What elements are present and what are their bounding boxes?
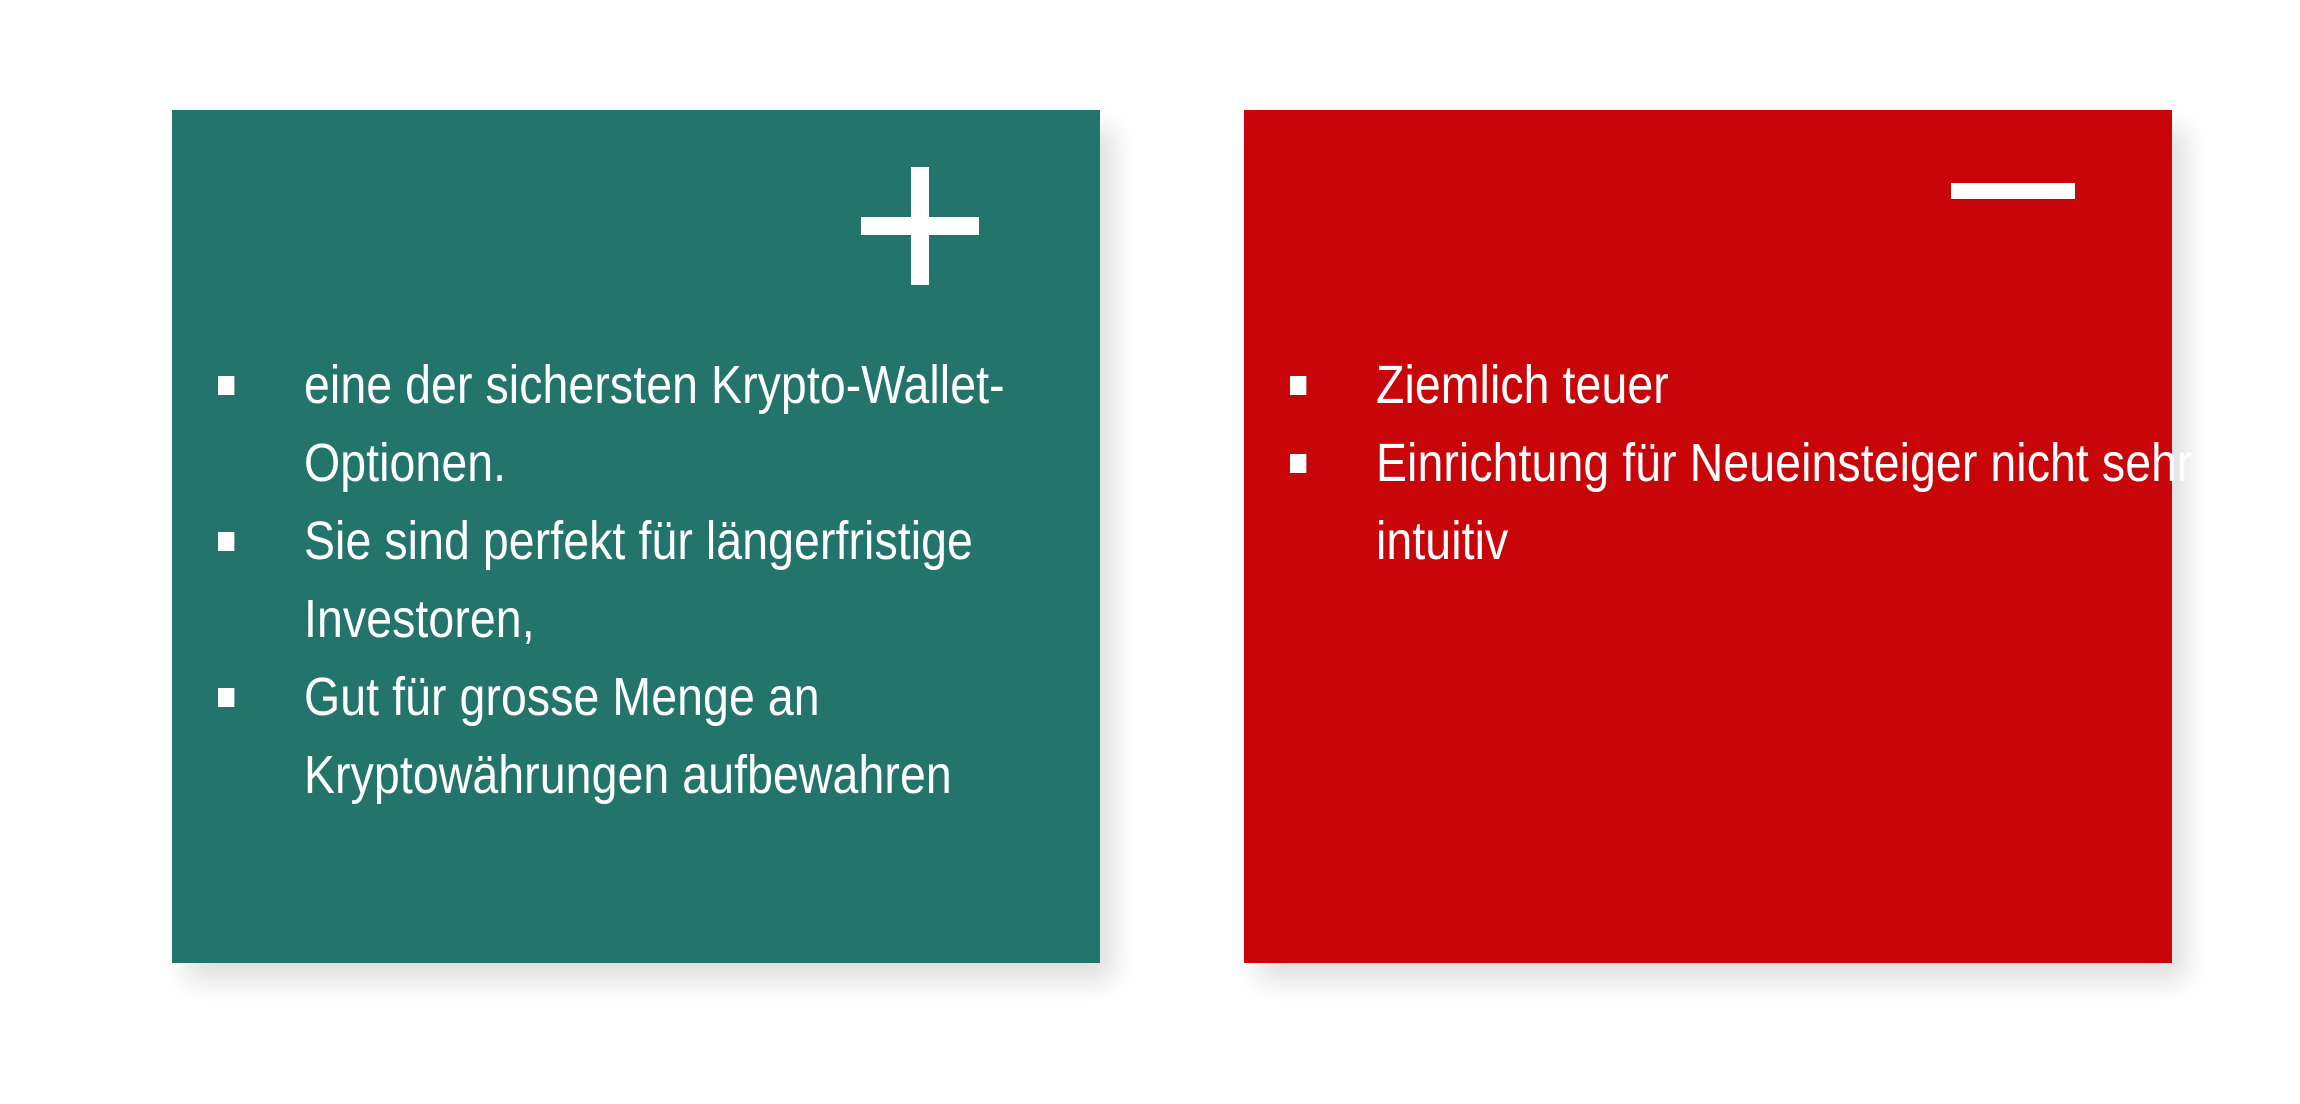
list-item: Ziemlich teuer xyxy=(1290,346,2232,424)
list-item: Einrichtung für Neueinsteiger nicht sehr… xyxy=(1290,424,2232,580)
list-item: Sie sind perfekt für längerfristige Inve… xyxy=(218,502,1160,658)
list-item: Gut für grosse Menge an Kryptowährungen … xyxy=(218,658,1160,814)
list-item-label: Einrichtung für Neueinsteiger nicht sehr… xyxy=(1376,424,2232,580)
bullet-square-icon xyxy=(1290,376,1306,395)
list-item: eine der sichersten Krypto-Wallet-Option… xyxy=(218,346,1160,502)
bullet-square-icon xyxy=(218,376,234,395)
cons-card: Ziemlich teuer Einrichtung für Neueinste… xyxy=(1244,110,2172,963)
comparison-panel: eine der sichersten Krypto-Wallet-Option… xyxy=(0,0,2300,1104)
minus-icon xyxy=(1951,183,2075,199)
list-item-label: Gut für grosse Menge an Kryptowährungen … xyxy=(304,658,1160,814)
list-item-label: eine der sichersten Krypto-Wallet-Option… xyxy=(304,346,1160,502)
pros-bullet-list: eine der sichersten Krypto-Wallet-Option… xyxy=(218,346,1076,814)
plus-icon xyxy=(861,167,979,285)
cons-bullet-list: Ziemlich teuer Einrichtung für Neueinste… xyxy=(1290,346,2148,580)
bullet-square-icon xyxy=(218,688,234,707)
pros-card: eine der sichersten Krypto-Wallet-Option… xyxy=(172,110,1100,963)
list-item-label: Ziemlich teuer xyxy=(1376,346,2232,424)
bullet-square-icon xyxy=(218,532,234,551)
bullet-square-icon xyxy=(1290,454,1306,473)
list-item-label: Sie sind perfekt für längerfristige Inve… xyxy=(304,502,1160,658)
